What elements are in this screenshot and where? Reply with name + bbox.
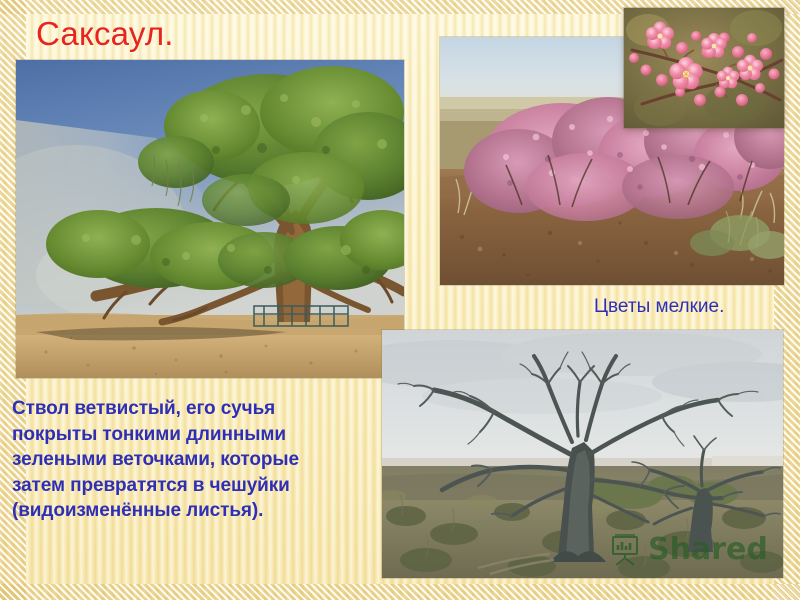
pink-blossom-closeup-photo xyxy=(624,8,784,128)
dry-saxaul-tree-photo xyxy=(382,330,783,578)
slide-title: Саксаул. xyxy=(36,14,174,54)
bottom-decorative-border xyxy=(0,584,800,600)
flowers-caption: Цветы мелкие. xyxy=(594,296,724,318)
body-text-line: зелеными веточками, которые xyxy=(12,447,374,473)
body-text-line: покрыты тонкими длинными xyxy=(12,422,374,448)
body-text-line: затем превратятся в чешуйки xyxy=(12,473,374,499)
body-text-line: (видоизменённые листья). xyxy=(12,498,374,524)
presentation-slide: Саксаул. xyxy=(0,0,800,600)
saxaul-tree-photo xyxy=(16,60,404,378)
body-text-block: Ствол ветвистый, его сучья покрыты тонки… xyxy=(12,396,374,524)
body-text-line: Ствол ветвистый, его сучья xyxy=(12,396,374,422)
